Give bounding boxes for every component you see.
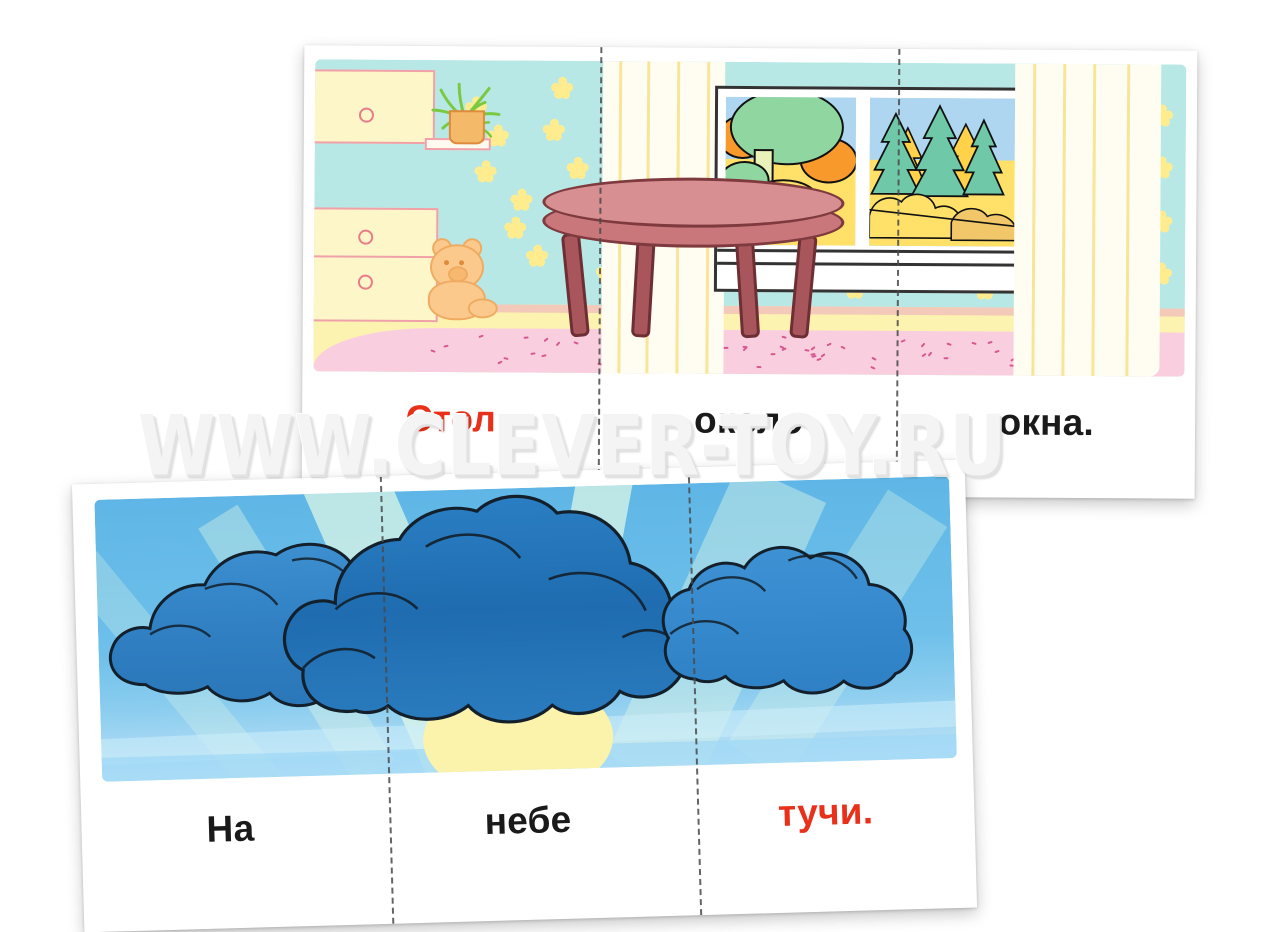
sentence-words-table: Стол около окна. xyxy=(302,397,1195,462)
flower-pot xyxy=(449,110,485,144)
rug-fleck xyxy=(541,354,546,357)
table-icon xyxy=(542,177,843,341)
screenshot-stage: Стол около окна. xyxy=(0,0,1280,905)
rug-fleck xyxy=(804,349,809,352)
wallpaper-flower xyxy=(567,157,589,179)
rug-fleck xyxy=(574,341,579,345)
rug-fleck xyxy=(742,346,747,348)
rug-fleck xyxy=(871,357,876,361)
table-leg xyxy=(789,234,818,339)
rug-fleck xyxy=(431,349,436,353)
fir-trees xyxy=(869,98,1018,247)
word-piece[interactable]: Стол xyxy=(302,397,600,459)
word-piece[interactable]: около xyxy=(600,399,898,461)
potted-plant-icon xyxy=(427,80,503,142)
rug-fleck xyxy=(972,342,977,345)
rug-fleck xyxy=(928,351,933,356)
rug-fleck xyxy=(821,353,826,358)
sentence-card-table[interactable]: Стол около окна. xyxy=(302,45,1198,498)
teddy-bear-icon xyxy=(426,236,498,316)
table-leg xyxy=(735,233,761,338)
rug-fleck xyxy=(987,341,992,344)
window-pane-right xyxy=(869,98,1018,247)
wallpaper-flower xyxy=(510,189,532,211)
rug-fleck xyxy=(756,365,761,367)
wallpaper-flower xyxy=(475,160,497,182)
table-leg xyxy=(631,233,656,338)
rug-fleck xyxy=(478,335,483,339)
rug-fleck xyxy=(524,336,529,338)
rug-fleck xyxy=(504,357,509,360)
wallpaper-flower xyxy=(551,77,573,99)
card-illustration-room xyxy=(313,59,1186,376)
rug-fleck xyxy=(497,360,502,364)
wallpaper-flower xyxy=(504,217,526,239)
rug-fleck xyxy=(841,345,846,349)
rug-fleck xyxy=(870,366,875,370)
rug-fleck xyxy=(443,344,448,347)
rug-fleck xyxy=(723,347,728,349)
rug-fleck xyxy=(900,339,905,343)
cabinet-knob xyxy=(359,108,374,123)
rug-fleck xyxy=(811,346,816,351)
wallpaper-flower xyxy=(543,119,565,141)
drawer-knob-top xyxy=(358,230,373,245)
curtain-icon-right xyxy=(1013,64,1161,377)
sentence-words-clouds: На небе тучи. xyxy=(81,787,975,872)
cloud-group xyxy=(94,476,957,782)
rug-fleck xyxy=(920,343,925,348)
drawer-knob-bottom xyxy=(358,275,373,290)
card-illustration-sky xyxy=(94,476,957,782)
table-leg xyxy=(561,232,590,337)
rug-fleck xyxy=(771,353,776,355)
sentence-card-clouds[interactable]: На небе тучи. xyxy=(72,460,977,932)
rug-fleck xyxy=(994,350,999,353)
word-piece[interactable]: окна. xyxy=(897,401,1195,463)
rug-fleck xyxy=(921,353,926,358)
cloud-icon-middle xyxy=(281,492,688,728)
rug-fleck xyxy=(943,357,948,359)
rug-fleck xyxy=(826,343,831,347)
word-piece[interactable]: На xyxy=(81,804,380,872)
rug-fleck xyxy=(817,358,822,361)
rug-fleck xyxy=(530,353,535,356)
dresser-icon xyxy=(313,207,438,322)
word-piece[interactable]: тучи. xyxy=(676,787,975,855)
rug-fleck xyxy=(555,342,560,347)
word-piece[interactable]: небе xyxy=(379,796,678,864)
sky-scene xyxy=(94,476,957,782)
rug-fleck xyxy=(947,343,952,346)
room-scene xyxy=(313,59,1186,376)
wall-cabinet xyxy=(313,69,435,144)
